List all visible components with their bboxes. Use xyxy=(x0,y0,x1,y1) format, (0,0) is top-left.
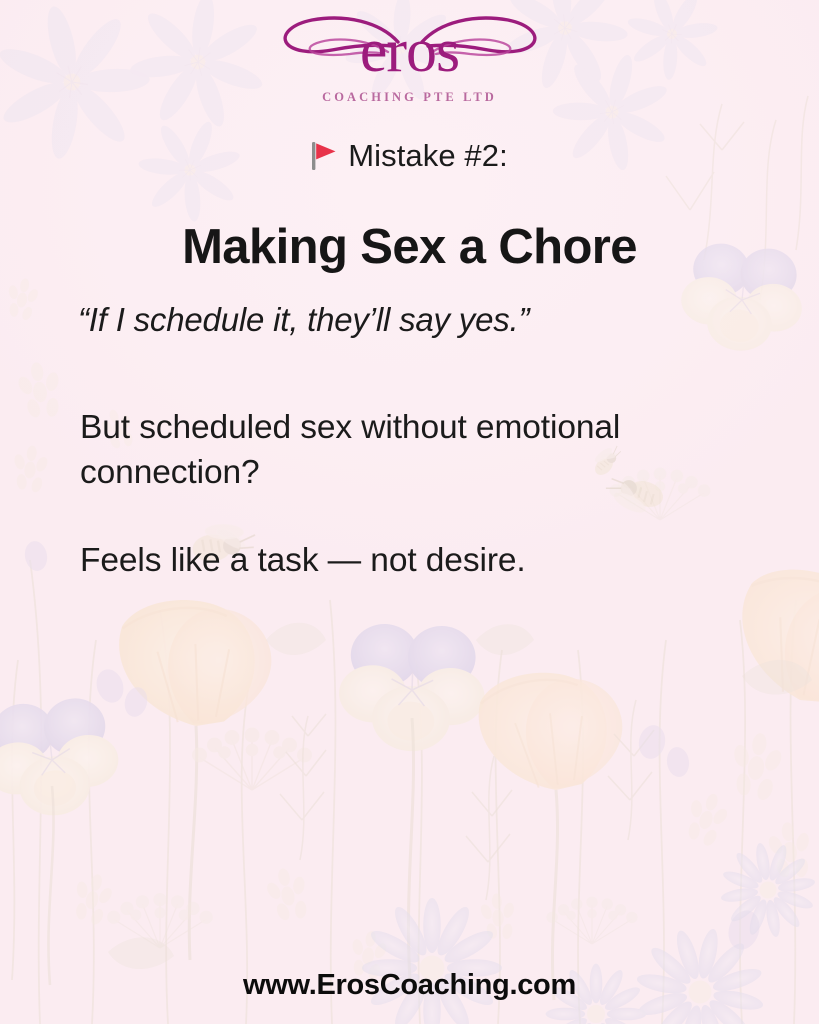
red-flag-icon xyxy=(311,141,337,171)
body-paragraph: Feels like a task — not desire. xyxy=(80,539,759,584)
kicker-label: Mistake #2: xyxy=(348,138,508,174)
brand-logo: eros COACHING PTE LTD xyxy=(0,12,819,122)
body-paragraph: But scheduled sex without emotional conn… xyxy=(80,406,759,495)
poster-content: eros COACHING PTE LTD Mistake #2: Making… xyxy=(0,0,819,1024)
page-title: Making Sex a Chore xyxy=(0,219,819,277)
footer-website-url[interactable]: www.ErosCoaching.com xyxy=(0,969,819,1002)
poster-canvas: eros COACHING PTE LTD Mistake #2: Making… xyxy=(0,0,819,1024)
logo-wordmark: eros xyxy=(280,20,540,82)
kicker-row: Mistake #2: xyxy=(0,138,819,174)
body-copy: But scheduled sex without emotional conn… xyxy=(80,406,759,584)
logo-mark: eros xyxy=(280,12,540,94)
pull-quote: “If I schedule it, they’ll say yes.” xyxy=(78,299,759,340)
